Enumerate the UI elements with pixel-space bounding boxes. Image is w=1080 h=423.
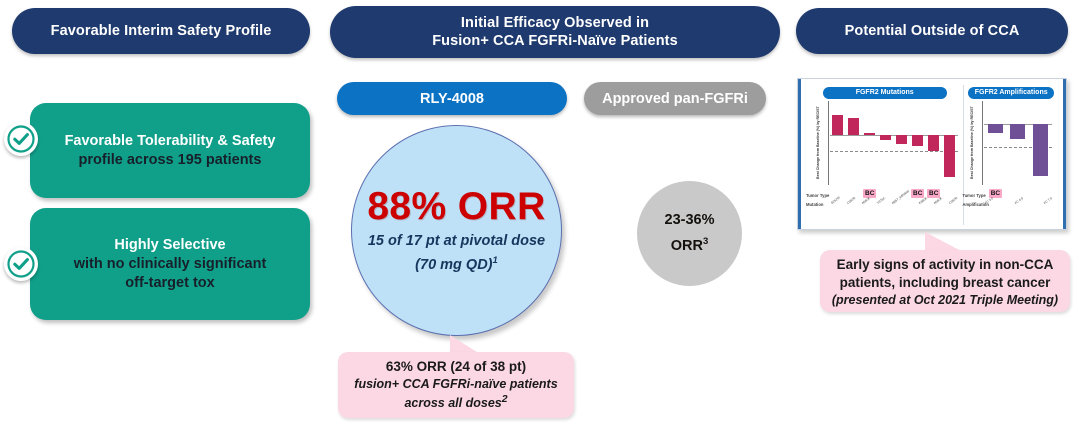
safety-card-1-subtitle: profile across 195 patients bbox=[65, 151, 276, 170]
check-circle-icon bbox=[4, 122, 38, 156]
pill-approved-pan-fgfri: Approved pan-FGFRi bbox=[584, 82, 766, 115]
chart-xtick-label: C382R bbox=[948, 196, 958, 205]
chart-bar-column bbox=[926, 101, 942, 185]
chart-title-amplifications: FGFR2 Amplifications bbox=[968, 87, 1054, 99]
chart-bar bbox=[832, 115, 843, 135]
chart-ylabel-amplifications: Best Change from Baseline (%) by RECIST bbox=[962, 101, 982, 185]
safety-card-2-title: Highly Selective bbox=[74, 236, 267, 255]
orr-detail-line1: 15 of 17 pt at pivotal dose bbox=[368, 233, 545, 249]
chart-bars-mutations bbox=[830, 101, 958, 185]
callout-mid-line3-text: across all doses bbox=[404, 396, 501, 410]
chart-title-mutations: FGFR2 Mutations bbox=[823, 87, 947, 99]
check-circle-icon bbox=[4, 247, 38, 281]
orr-comparator-circle: 23-36% ORR3 bbox=[637, 181, 742, 286]
safety-card-selectivity: Highly Selective with no clinically sign… bbox=[30, 208, 310, 320]
comparator-footnote: 3 bbox=[703, 236, 708, 247]
orr-headline: 88% ORR bbox=[367, 186, 545, 228]
pill-rly-4008: RLY-4008 bbox=[337, 82, 567, 115]
callout-mid-line1: 63% ORR (24 of 38 pt) bbox=[344, 358, 568, 376]
bc-badge: BC bbox=[911, 189, 924, 198]
chart-bar bbox=[896, 135, 907, 145]
pill-pan-label: Approved pan-FGFRi bbox=[602, 91, 748, 107]
slide-canvas: Favorable Interim Safety Profile Initial… bbox=[0, 0, 1080, 423]
comparator-orr-text: ORR bbox=[671, 238, 703, 254]
orr-primary-circle: 88% ORR 15 of 17 pt at pivotal dose (70 … bbox=[351, 125, 562, 336]
header-left-label: Favorable Interim Safety Profile bbox=[51, 22, 272, 40]
chart-bar bbox=[1010, 124, 1025, 139]
plot-area-mutations: Best Change from Baseline (%) by RECIST bbox=[830, 101, 958, 185]
chart-yaxis-amplifications bbox=[982, 101, 983, 185]
chart-bar-column bbox=[862, 101, 878, 185]
chart-bar bbox=[988, 124, 1003, 133]
chart-bar-column bbox=[1007, 101, 1030, 185]
orr-detail-line2: (70 mg QD) bbox=[415, 257, 492, 273]
comparator-orr-label: ORR3 bbox=[671, 231, 709, 257]
chart-xticks-amplifications: FC 3.0FC 4.5FC 7.0 bbox=[984, 202, 1052, 206]
chart-bar-column bbox=[894, 101, 910, 185]
chart-bar-column bbox=[830, 101, 846, 185]
safety-card-1-title: Favorable Tolerability & Safety bbox=[65, 132, 276, 151]
safety-card-2-subtitle2: off-target tox bbox=[74, 274, 267, 293]
chart-bar-column bbox=[984, 101, 1007, 185]
header-right-label: Potential Outside of CCA bbox=[845, 22, 1020, 40]
orr-detail: 15 of 17 pt at pivotal dose (70 mg QD)1 bbox=[368, 232, 545, 275]
orr-detail-footnote: 1 bbox=[493, 255, 498, 266]
chart-bar-column bbox=[910, 101, 926, 185]
chart-bar bbox=[848, 118, 859, 134]
axis-row-label-tumor-type-amp: Tumor Type bbox=[962, 193, 985, 198]
safety-card-tolerability: Favorable Tolerability & Safety profile … bbox=[30, 103, 310, 198]
chart-xticks-mutations: S252WC382RN550KY376CN657_K659delK660EN55… bbox=[830, 202, 958, 206]
callout-all-doses: 63% ORR (24 of 38 pt) fusion+ CCA FGFRi-… bbox=[338, 352, 574, 418]
chart-bar bbox=[880, 135, 891, 141]
callout-right-line3: (presented at Oct 2021 Triple Meeting) bbox=[826, 292, 1064, 308]
plot-area-amplifications: Best Change from Baseline (%) by RECIST bbox=[984, 101, 1052, 185]
callout-right-line1: Early signs of activity in non-CCA bbox=[826, 256, 1064, 274]
header-pill-safety: Favorable Interim Safety Profile bbox=[12, 8, 310, 54]
callout-right-line2: patients, including breast cancer bbox=[826, 274, 1064, 292]
callout-non-cca-activity: Early signs of activity in non-CCA patie… bbox=[820, 250, 1070, 312]
chart-bar bbox=[944, 135, 955, 177]
header-pill-efficacy: Initial Efficacy Observed in Fusion+ CCA… bbox=[330, 6, 780, 58]
chart-panel-mutations: FGFR2 Mutations Best Change from Baselin… bbox=[806, 85, 963, 225]
chart-accent-right bbox=[1063, 79, 1066, 229]
callout-mid-line2: fusion+ CCA FGFRi-naïve patients bbox=[344, 376, 568, 392]
header-mid-line1: Initial Efficacy Observed in bbox=[432, 14, 678, 32]
chart-xtick-label: S252W bbox=[830, 196, 841, 206]
chart-bar-column bbox=[1030, 101, 1053, 185]
header-pill-outside-cca: Potential Outside of CCA bbox=[796, 8, 1068, 54]
chart-bars-amplifications bbox=[984, 101, 1052, 185]
chart-ylabel-mutations: Best Change from Baseline (%) by RECIST bbox=[808, 101, 828, 185]
pill-rly-label: RLY-4008 bbox=[420, 91, 484, 107]
chart-panel-amplifications: FGFR2 Amplifications Best Change from Ba… bbox=[963, 85, 1058, 225]
comparator-range: 23-36% bbox=[665, 210, 715, 231]
chart-bar-column bbox=[878, 101, 894, 185]
chart-accent-left bbox=[798, 79, 801, 229]
chart-bar bbox=[928, 135, 939, 152]
safety-card-2-subtitle: with no clinically significant bbox=[74, 255, 267, 274]
chart-xtick-label: N657_K659del bbox=[891, 189, 910, 205]
chart-xtick-label: Y376C bbox=[876, 196, 886, 205]
axis-row-label-tumor-type-mut: Tumor Type bbox=[806, 193, 829, 198]
chart-xtick-label: FC 4.5 bbox=[1014, 196, 1024, 205]
chart-xtick-label: FC 7.0 bbox=[1043, 196, 1053, 205]
chart-yaxis-mutations bbox=[828, 101, 829, 185]
chart-bar-column bbox=[942, 101, 958, 185]
chart-bar bbox=[912, 135, 923, 146]
callout-mid-footnote: 2 bbox=[502, 394, 508, 405]
chart-bar-column bbox=[846, 101, 862, 185]
axis-row-label-mutation: Mutation bbox=[806, 202, 823, 207]
callout-mid-line3: across all doses2 bbox=[344, 392, 568, 411]
chart-xtick-label: C382R bbox=[846, 196, 856, 205]
chart-bar bbox=[1033, 124, 1048, 176]
chart-bar bbox=[864, 133, 875, 135]
waterfall-chart-thumbnail: FGFR2 Mutations Best Change from Baselin… bbox=[797, 78, 1067, 230]
header-mid-line2: Fusion+ CCA FGFRi-Naïve Patients bbox=[432, 32, 678, 50]
